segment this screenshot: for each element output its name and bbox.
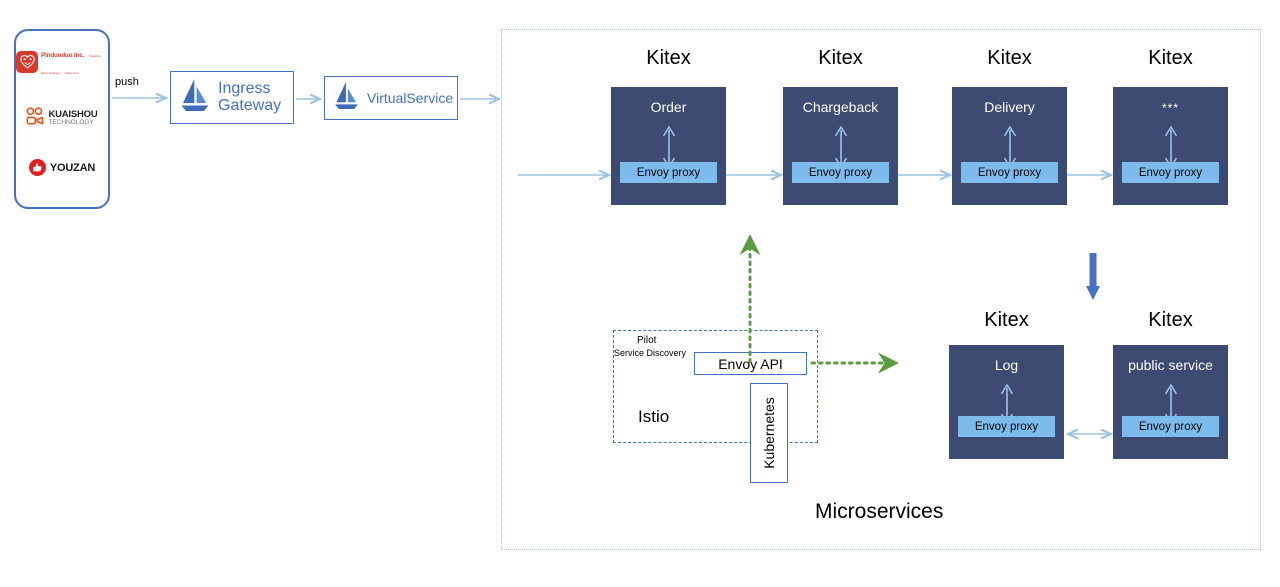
connector-arrows-layer <box>0 0 1280 587</box>
diagram-canvas: Pinduoduo Inc. Together, More Savings, M… <box>0 0 1280 587</box>
arrow-top-row-to-bottom-row <box>1086 253 1100 300</box>
